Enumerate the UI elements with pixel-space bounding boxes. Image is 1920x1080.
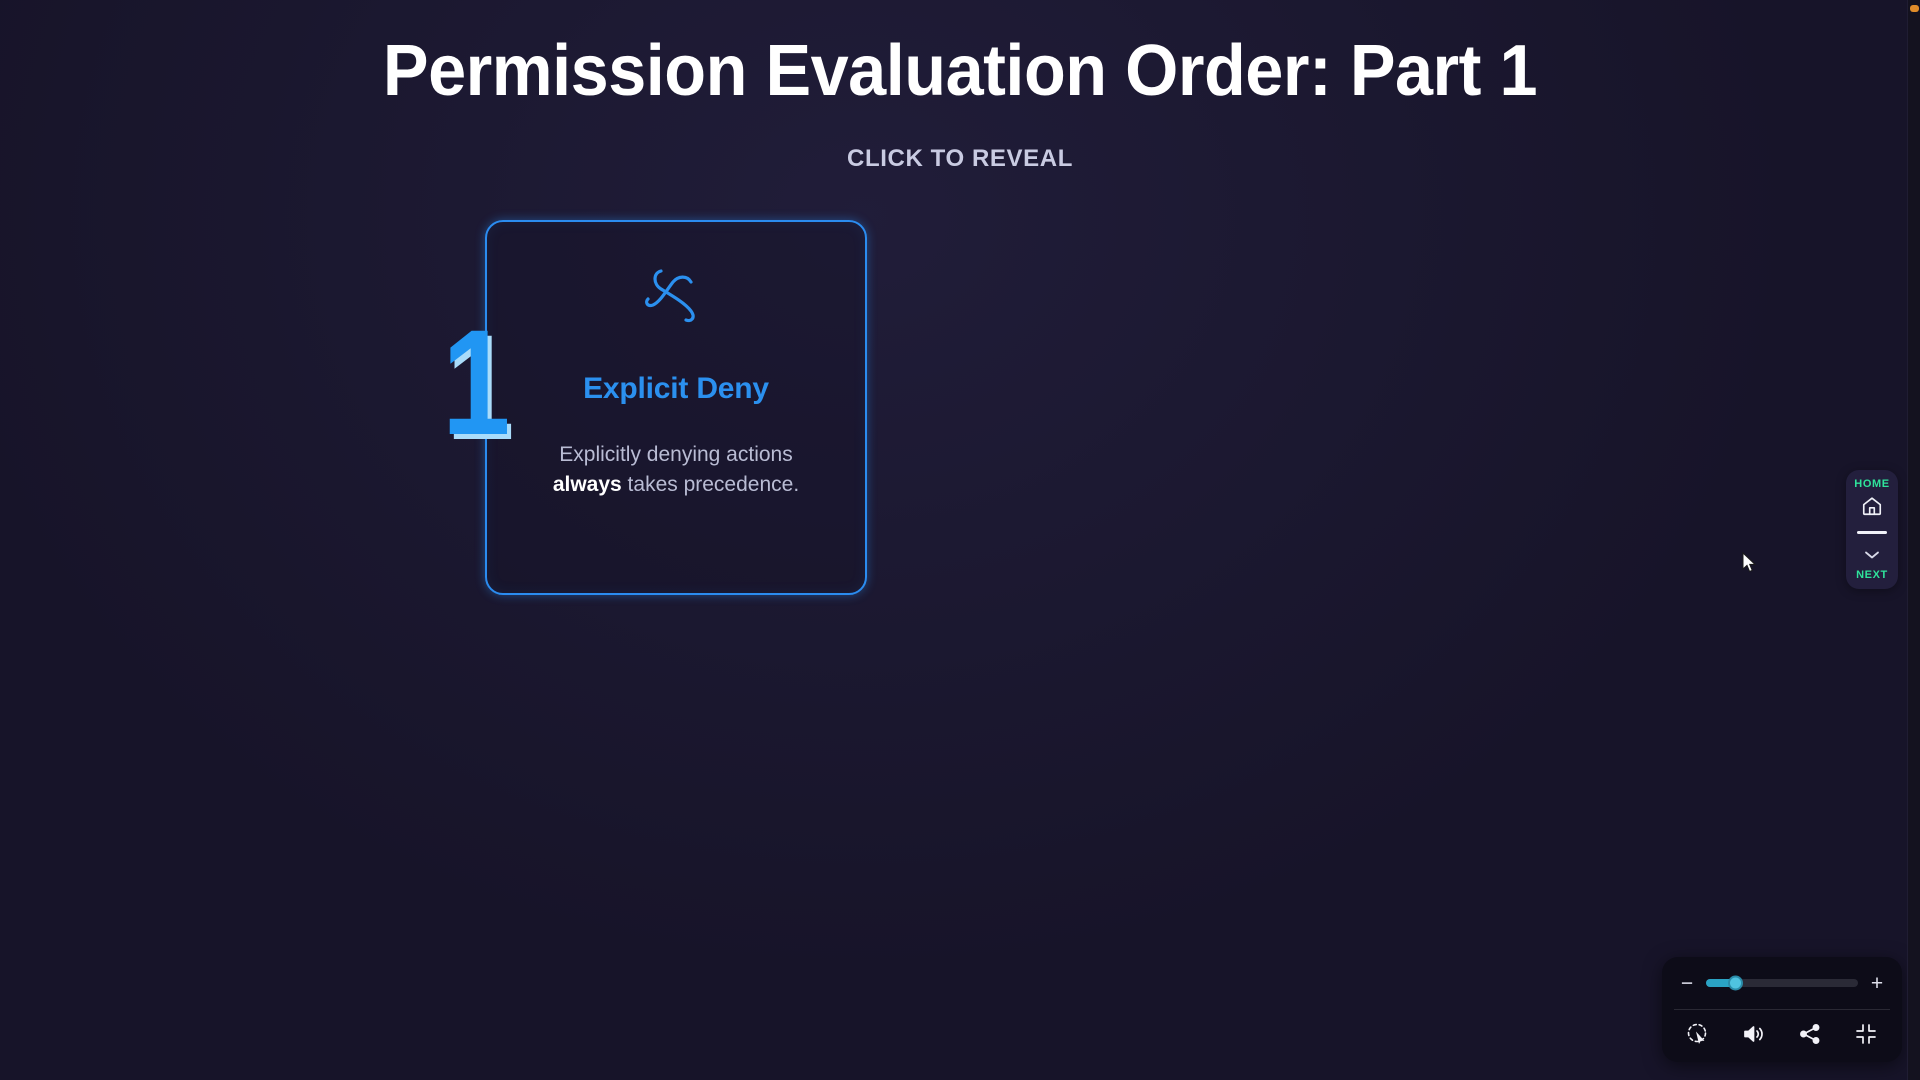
presentation-stage[interactable]: Permission Evaluation Order: Part 1 CLIC… <box>0 0 1920 1080</box>
zoom-out-button[interactable]: − <box>1678 973 1696 994</box>
home-label: HOME <box>1854 478 1889 490</box>
next-label: NEXT <box>1856 569 1888 581</box>
share-icon <box>1798 1022 1822 1051</box>
scrollbar-marker <box>1910 5 1919 12</box>
side-navigation[interactable]: HOME NEXT <box>1846 470 1898 589</box>
chevron-down-icon <box>1864 547 1880 565</box>
zoom-row[interactable]: − + <box>1662 957 1902 1009</box>
vertical-scrollbar[interactable] <box>1907 0 1920 1080</box>
player-toolbar[interactable]: − + <box>1662 957 1902 1062</box>
select-cursor-icon <box>1686 1022 1710 1051</box>
mouse-cursor <box>1742 552 1758 574</box>
card-body-lead: Explicitly denying actions <box>559 443 792 466</box>
volume-icon <box>1742 1022 1766 1051</box>
page-title: Permission Evaluation Order: Part 1 <box>48 32 1872 111</box>
volume-button[interactable] <box>1737 1019 1771 1053</box>
next-button[interactable] <box>1855 547 1889 565</box>
card-heading: Explicit Deny <box>487 372 865 406</box>
explicit-deny-card[interactable]: 1 Explicit Deny Explicitly denying actio… <box>485 220 867 595</box>
toolbar-icon-row[interactable] <box>1662 1010 1902 1062</box>
collapse-fullscreen-icon <box>1854 1022 1878 1051</box>
deny-swirl-icon <box>641 260 711 330</box>
home-icon <box>1861 495 1883 522</box>
zoom-slider-handle[interactable] <box>1728 976 1743 991</box>
collapse-fullscreen-button[interactable] <box>1849 1019 1883 1053</box>
share-button[interactable] <box>1793 1019 1827 1053</box>
zoom-slider[interactable] <box>1706 979 1858 987</box>
home-button[interactable] <box>1855 494 1889 522</box>
click-to-reveal-subtitle: CLICK TO REVEAL <box>0 145 1920 173</box>
card-body-text: Explicitly denying actions always takes … <box>515 440 837 500</box>
zoom-in-button[interactable]: + <box>1868 973 1886 994</box>
card-body-emphasis: always <box>553 473 622 496</box>
sidenav-divider <box>1857 531 1887 534</box>
card-body-tail: takes precedence. <box>622 473 799 496</box>
select-cursor-button[interactable] <box>1681 1019 1715 1053</box>
